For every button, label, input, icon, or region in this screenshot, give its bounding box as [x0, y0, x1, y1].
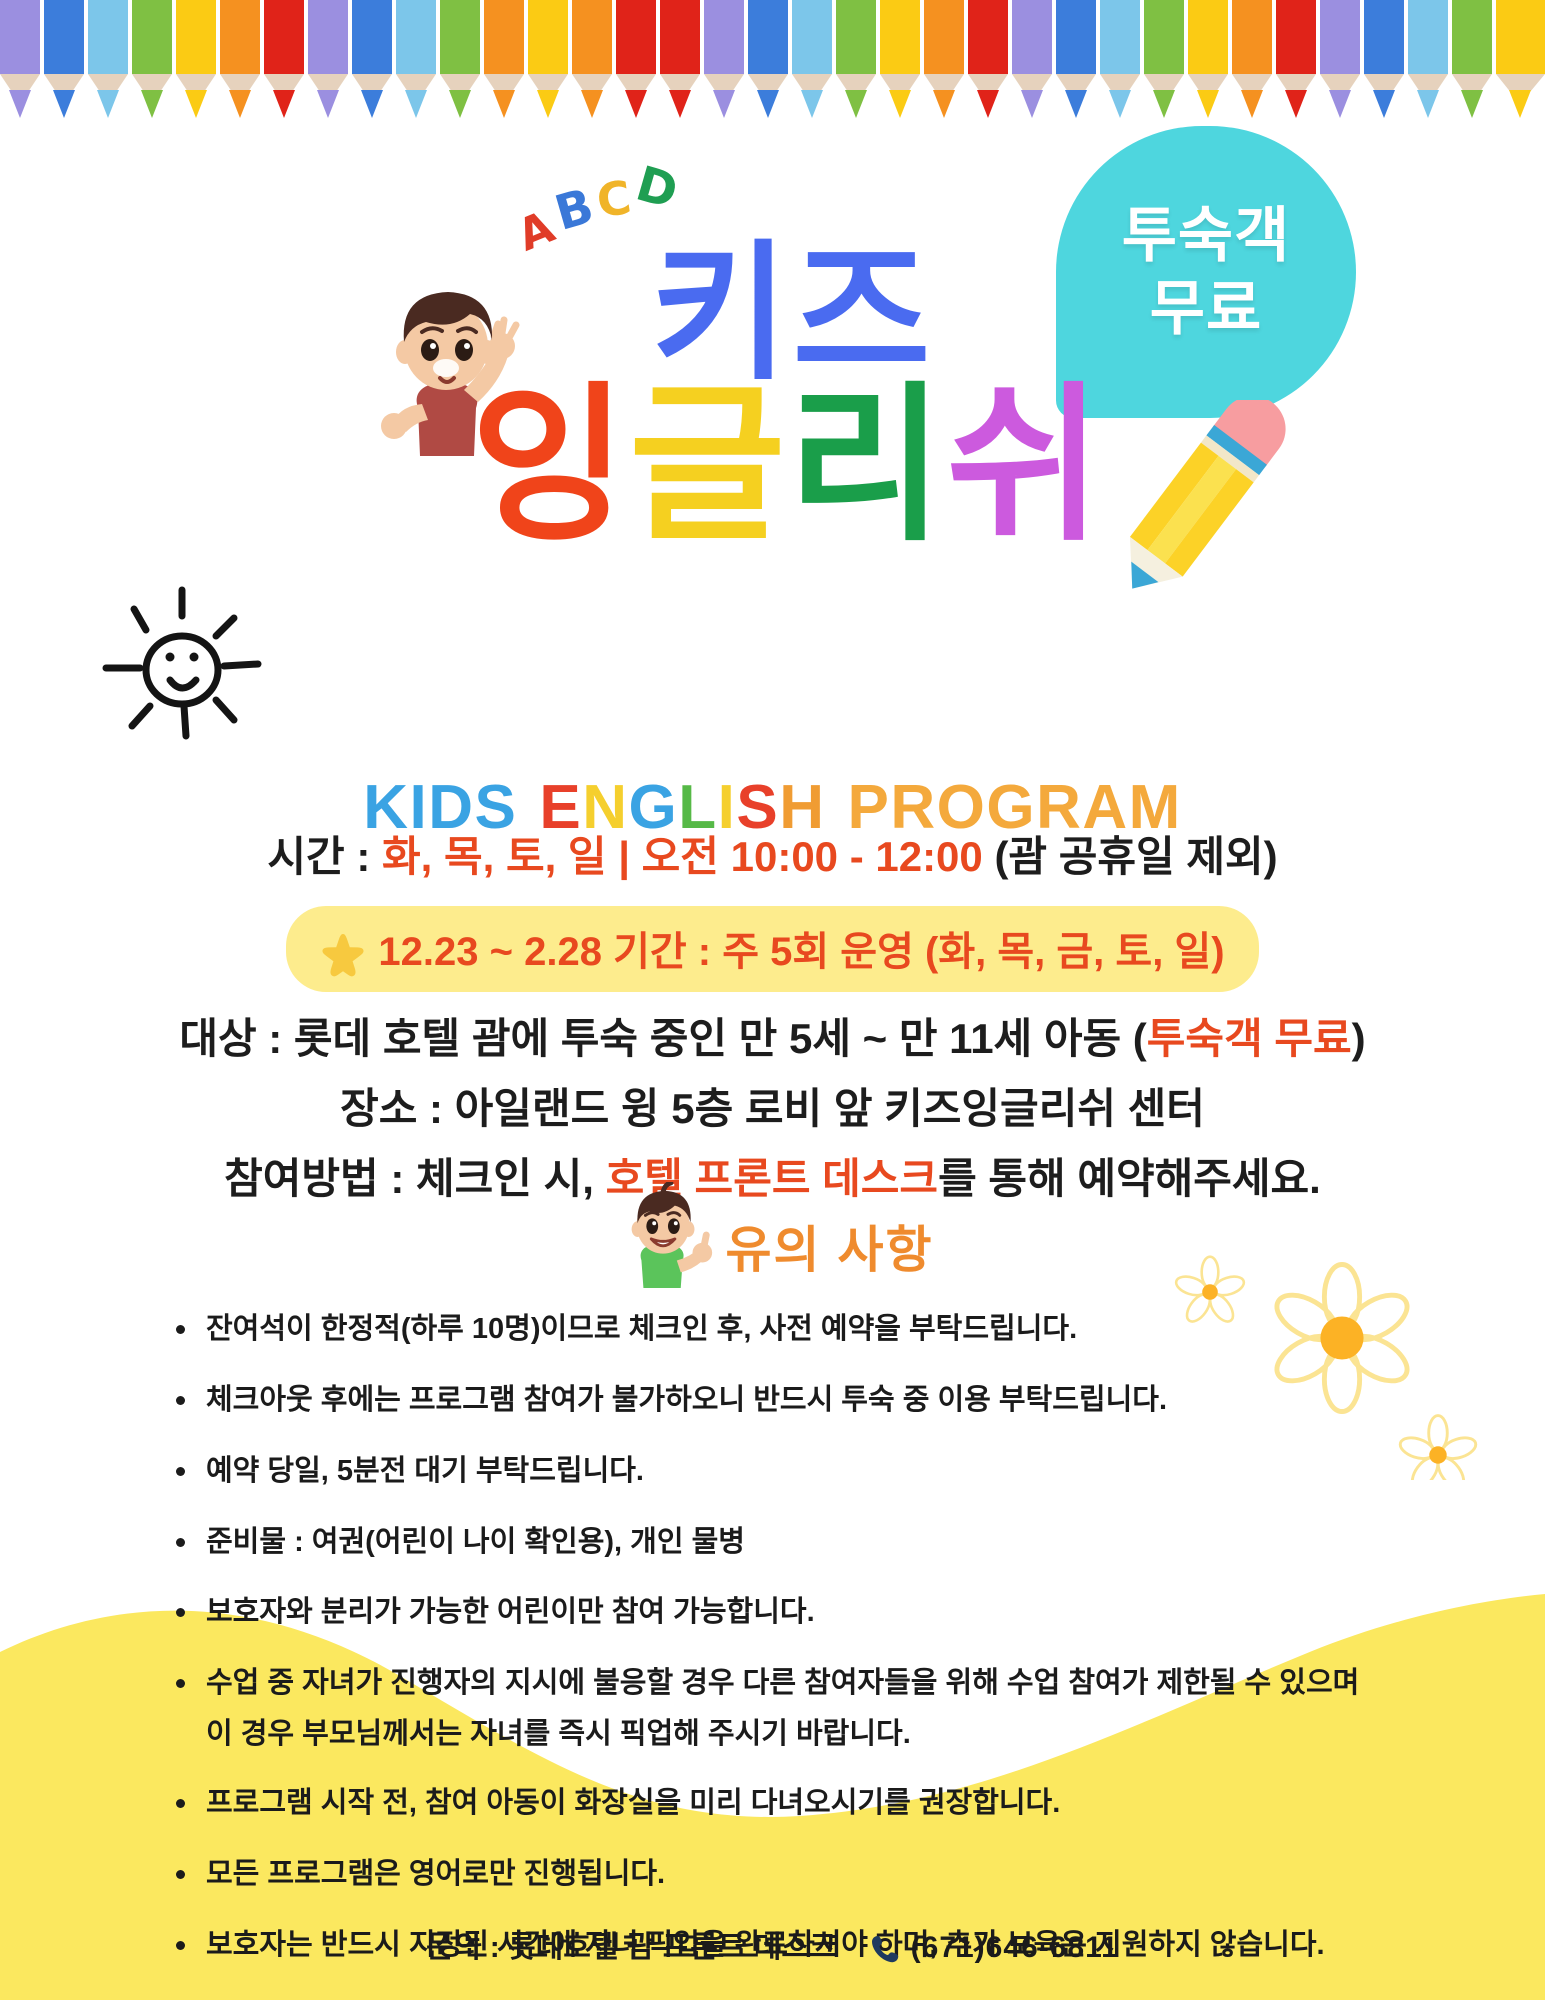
bullet-line: 이 경우 부모님께서는 자녀를 즉시 픽업해 주시기 바랍니다. — [206, 1715, 1470, 1754]
list-item: 프로그램 시작 전, 참여 아동이 화장실을 미리 다녀오시기를 권장합니다. — [170, 1784, 1470, 1823]
list-item: 체크아웃 후에는 프로그램 참여가 불가하오니 반드시 투숙 중 이용 부탁드립… — [170, 1381, 1470, 1420]
kid-waving-icon — [360, 270, 540, 470]
period-text: 12.23 ~ 2.28 기간 : 주 5회 운영 (화, 목, 금, 토, 일… — [378, 930, 1224, 974]
bullet-line: 잔여석이 한정적(하루 10명)이므로 체크인 후, 사전 예약을 부탁드립니다… — [206, 1310, 1470, 1349]
poster-root: 투숙객 무료 A B C D — [0, 0, 1545, 2000]
title-char: 즈 — [793, 240, 935, 387]
list-item: 잔여석이 한정적(하루 10명)이므로 체크인 후, 사전 예약을 부탁드립니다… — [170, 1310, 1470, 1349]
star-icon — [320, 931, 366, 977]
title-char: 리 — [788, 381, 946, 551]
list-item: 준비물 : 여권(어린이 나이 확인용), 개인 물병 — [170, 1523, 1470, 1562]
phone-icon — [869, 1933, 901, 1965]
target-label: 대상 : — [179, 1015, 294, 1062]
title-char: 글 — [629, 381, 787, 551]
page-title: 키즈 잉글리쉬 — [0, 240, 1545, 551]
bullet-line: 보호자와 분리가 가능한 어린이만 참여 가능합니다. — [206, 1593, 1470, 1632]
target-close: ) — [1352, 1015, 1366, 1062]
info-line-target: 대상 : 롯데 호텔 괌에 투숙 중인 만 5세 ~ 만 11세 아동 (투숙객… — [0, 1018, 1545, 1060]
notice-heading-label: 유의 사항 — [726, 1210, 934, 1282]
notice-bullet-list: 잔여석이 한정적(하루 10명)이므로 체크인 후, 사전 예약을 부탁드립니다… — [170, 1310, 1470, 2000]
pencil-top-border — [0, 0, 1545, 118]
target-free: 투숙객 무료 — [1147, 1015, 1352, 1062]
list-item: 모든 프로그램은 영어로만 진행됩니다. — [170, 1855, 1470, 1894]
title-char: 키 — [650, 240, 792, 387]
phone-number: (671)646-6811 — [911, 1931, 1119, 1964]
notice-heading-row: 유의 사항 — [0, 1182, 1545, 1290]
list-item: 보호자와 분리가 가능한 어린이만 참여 가능합니다. — [170, 1593, 1470, 1632]
bullet-line: 준비물 : 여권(어린이 나이 확인용), 개인 물병 — [206, 1523, 1470, 1562]
bullet-line: 아동에게 아래와 같은 증상이 있다면 해당 프로그램에 참여할 수 없습니다.… — [206, 1997, 1470, 2000]
period-highlight-row: 12.23 ~ 2.28 기간 : 주 5회 운영 (화, 목, 금, 토, 일… — [0, 906, 1545, 992]
bullet-line: 체크아웃 후에는 프로그램 참여가 불가하오니 반드시 투숙 중 이용 부탁드립… — [206, 1381, 1470, 1420]
doodle-letter-c: C — [593, 170, 634, 228]
info-line-time: 시간 : 화, 목, 토, 일 | 오전 10:00 - 12:00 (괌 공휴… — [0, 836, 1545, 878]
title-row-inglish: 잉글리쉬 — [0, 381, 1545, 551]
list-item: 아동에게 아래와 같은 증상이 있다면 해당 프로그램에 참여할 수 없습니다.… — [170, 1997, 1470, 2000]
sun-doodle-icon — [82, 578, 282, 758]
doodle-letter-b: B — [549, 178, 600, 242]
bullet-line: 프로그램 시작 전, 참여 아동이 화장실을 미리 다녀오시기를 권장합니다. — [206, 1784, 1470, 1823]
footer-contact: 문의 : 롯데호텔 괌 프론트 데스크 (671)646-6811 — [0, 1922, 1545, 1966]
time-label: 시간 : — [267, 833, 382, 880]
bullet-line: 모든 프로그램은 영어로만 진행됩니다. — [206, 1855, 1470, 1894]
info-line-place: 장소 : 아일랜드 윙 5층 로비 앞 키즈잉글리쉬 센터 — [0, 1088, 1545, 1130]
title-char: 쉬 — [946, 381, 1104, 551]
doodle-letter-d: D — [630, 156, 684, 221]
list-item: 예약 당일, 5분전 대기 부탁드립니다. — [170, 1452, 1470, 1491]
kid-thumbsup-icon — [612, 1182, 720, 1290]
period-highlight-pill: 12.23 ~ 2.28 기간 : 주 5회 운영 (화, 목, 금, 토, 일… — [286, 906, 1258, 992]
title-row-kizeu: 키즈 — [0, 240, 1545, 387]
target-value: 롯데 호텔 괌에 투숙 중인 만 5세 ~ 만 11세 아동 ( — [294, 1015, 1147, 1062]
time-note: (괌 공휴일 제외) — [983, 833, 1278, 880]
program-info-block: 시간 : 화, 목, 토, 일 | 오전 10:00 - 12:00 (괌 공휴… — [0, 836, 1545, 1228]
place-value: 아일랜드 윙 5층 로비 앞 키즈잉글리쉬 센터 — [455, 1085, 1205, 1132]
list-item: 수업 중 자녀가 진행자의 지시에 불응할 경우 다른 참여자들을 위해 수업 … — [170, 1664, 1470, 1754]
bullet-line: 예약 당일, 5분전 대기 부탁드립니다. — [206, 1452, 1470, 1491]
time-value: 화, 목, 토, 일 | 오전 10:00 - 12:00 — [382, 833, 983, 880]
place-label: 장소 : — [340, 1085, 455, 1132]
bullet-line: 수업 중 자녀가 진행자의 지시에 불응할 경우 다른 참여자들을 위해 수업 … — [206, 1664, 1470, 1703]
contact-label: 문의 : 롯데호텔 괌 프론트 데스크 — [426, 1931, 836, 1964]
